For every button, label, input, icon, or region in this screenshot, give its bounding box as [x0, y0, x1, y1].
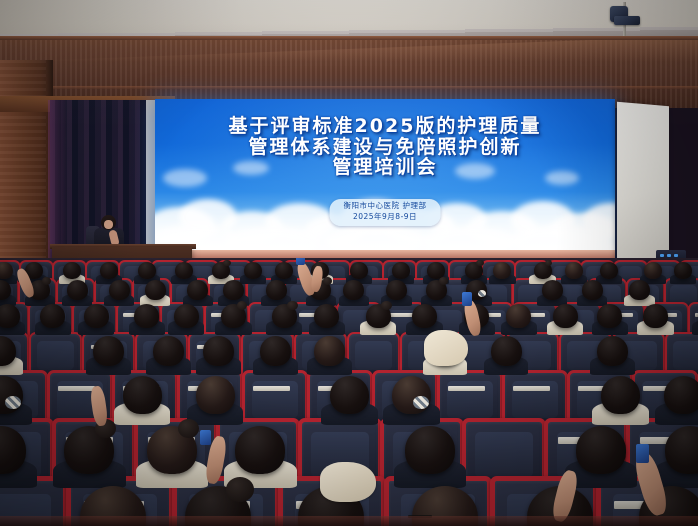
- attendee-head: [542, 280, 563, 300]
- attendee-head: [153, 336, 184, 366]
- audience-area: [0, 258, 698, 526]
- attendee-head: [597, 304, 622, 328]
- attendee-head: [576, 426, 626, 474]
- attendee-head: [0, 304, 20, 328]
- truss-top-edge: [233, 32, 263, 35]
- attendee-head: [0, 262, 13, 279]
- truss-top-edge: [175, 32, 205, 35]
- attendee-head: [386, 280, 407, 300]
- attendee-head: [266, 280, 287, 300]
- seat-cushion: [37, 341, 74, 370]
- attendee-head: [392, 376, 431, 414]
- seat-cushion: [673, 341, 698, 370]
- truss-top-edge: [378, 30, 408, 33]
- attendee-head: [330, 376, 369, 414]
- truss-top-edge: [262, 31, 292, 34]
- screen-title-block: 基于评审标准2025版的护理质量 管理体系建设与免陪照护创新 管理培训会: [155, 116, 615, 178]
- attendee-head: [93, 336, 124, 366]
- truss-top-edge: [494, 29, 524, 32]
- side-projection-panel: [617, 102, 669, 267]
- seat-number-tag: [58, 386, 95, 391]
- attendee-head: [145, 280, 166, 300]
- hair-bun: [226, 477, 254, 502]
- truss-top-edge: [582, 28, 612, 31]
- subtitle-date: 2025年9月8-9日: [344, 212, 427, 223]
- attendee-head: [123, 376, 162, 414]
- truss-top-edge: [524, 29, 554, 32]
- attendee-head: [643, 304, 668, 328]
- seat-number-tag: [253, 386, 290, 391]
- rack-led-1: [660, 254, 664, 257]
- truss-top-edge: [407, 30, 437, 33]
- smartphone-icon: [296, 258, 305, 265]
- attendee-head: [134, 304, 159, 328]
- attendee-head: [565, 262, 583, 279]
- attendee-head: [674, 262, 692, 279]
- attendee-head: [491, 336, 522, 366]
- truss-top-edge: [349, 30, 379, 33]
- attendee-head: [601, 376, 640, 414]
- seat-number-tag: [448, 386, 485, 391]
- hair-scrunchie: [5, 396, 21, 409]
- attendee-shoulders: [692, 320, 698, 335]
- subtitle-organization: 衡阳市中心医院 护理部: [344, 201, 427, 212]
- attendee-head: [260, 336, 291, 366]
- truss-top-edge: [465, 29, 495, 32]
- auditorium-photo: 基于评审标准2025版的护理质量 管理体系建设与免陪照护创新 管理培训会 衡阳市…: [0, 0, 698, 526]
- hair-bun: [381, 301, 392, 311]
- hair-scrunchie: [413, 396, 429, 409]
- wood-trim-top: [0, 36, 698, 40]
- attendee-head: [392, 262, 410, 279]
- smartphone-icon: [200, 430, 211, 445]
- truss-top-edge: [436, 30, 466, 33]
- seat-cushion: [475, 432, 533, 477]
- attendee-head: [84, 304, 109, 328]
- attendee-head: [196, 376, 235, 414]
- rack-led-2: [667, 254, 671, 257]
- subtitle-pill: 衡阳市中心医院 护理部 2025年9月8-9日: [330, 199, 441, 226]
- attendee-head: [343, 280, 364, 300]
- attendee-head: [187, 280, 208, 300]
- seat-cushion: [355, 341, 392, 370]
- led-display-screen: 基于评审标准2025版的护理质量 管理体系建设与免陪照护创新 管理培训会 衡阳市…: [155, 99, 615, 259]
- attendee-head: [40, 304, 65, 328]
- draped-cloth: [424, 330, 468, 366]
- presenter-face: [104, 220, 113, 229]
- attendee-head: [664, 376, 698, 414]
- title-line-3: 管理培训会: [155, 157, 615, 178]
- hair-bun: [287, 301, 298, 311]
- truss-top-edge: [204, 32, 234, 35]
- seat-number-tag: [513, 386, 550, 391]
- attendee-head: [138, 262, 156, 279]
- attendee-head: [275, 262, 293, 279]
- attendee-head: [506, 304, 531, 328]
- truss-top-edge: [320, 31, 350, 34]
- attendee-head: [244, 262, 262, 279]
- truss-top-edge: [553, 28, 583, 31]
- rack-led-3: [674, 254, 678, 257]
- attendee-head: [597, 336, 628, 366]
- wood-trim-mid: [0, 86, 698, 89]
- truss-top-edge: [669, 27, 698, 30]
- draped-cloth: [320, 462, 376, 502]
- attendee-head: [203, 336, 234, 366]
- smartphone-icon: [636, 444, 649, 463]
- attendee-head: [350, 262, 368, 279]
- attendee-head: [175, 262, 193, 279]
- attendee-head: [109, 280, 130, 300]
- floor-strip: [0, 516, 698, 526]
- attendee-head: [412, 304, 437, 328]
- smartphone-icon: [462, 292, 472, 306]
- truss-top-edge: [640, 27, 670, 30]
- attendee-head: [100, 262, 118, 279]
- attendee-head: [600, 262, 618, 279]
- camera-mount: [614, 16, 640, 25]
- attendee-head: [644, 262, 662, 279]
- attendee-head: [314, 336, 345, 366]
- attendee-head: [493, 262, 511, 279]
- attendee-head: [582, 280, 603, 300]
- seat-number-tag: [387, 313, 412, 317]
- attendee-head: [314, 304, 339, 328]
- attendee-head: [174, 304, 199, 328]
- attendee-head: [63, 262, 81, 279]
- truss-top-edge: [291, 31, 321, 34]
- attendee-head: [67, 280, 88, 300]
- attendee-head: [405, 426, 455, 474]
- title-line-2: 管理体系建设与免陪照护创新: [155, 137, 615, 158]
- attendee-head: [223, 280, 244, 300]
- title-line-1: 基于评审标准2025版的护理质量: [155, 116, 615, 137]
- attendee-head: [629, 280, 650, 300]
- attendee-head: [553, 304, 578, 328]
- attendee-head: [235, 426, 285, 474]
- hair-bun: [439, 277, 448, 285]
- hair-bun: [476, 260, 484, 267]
